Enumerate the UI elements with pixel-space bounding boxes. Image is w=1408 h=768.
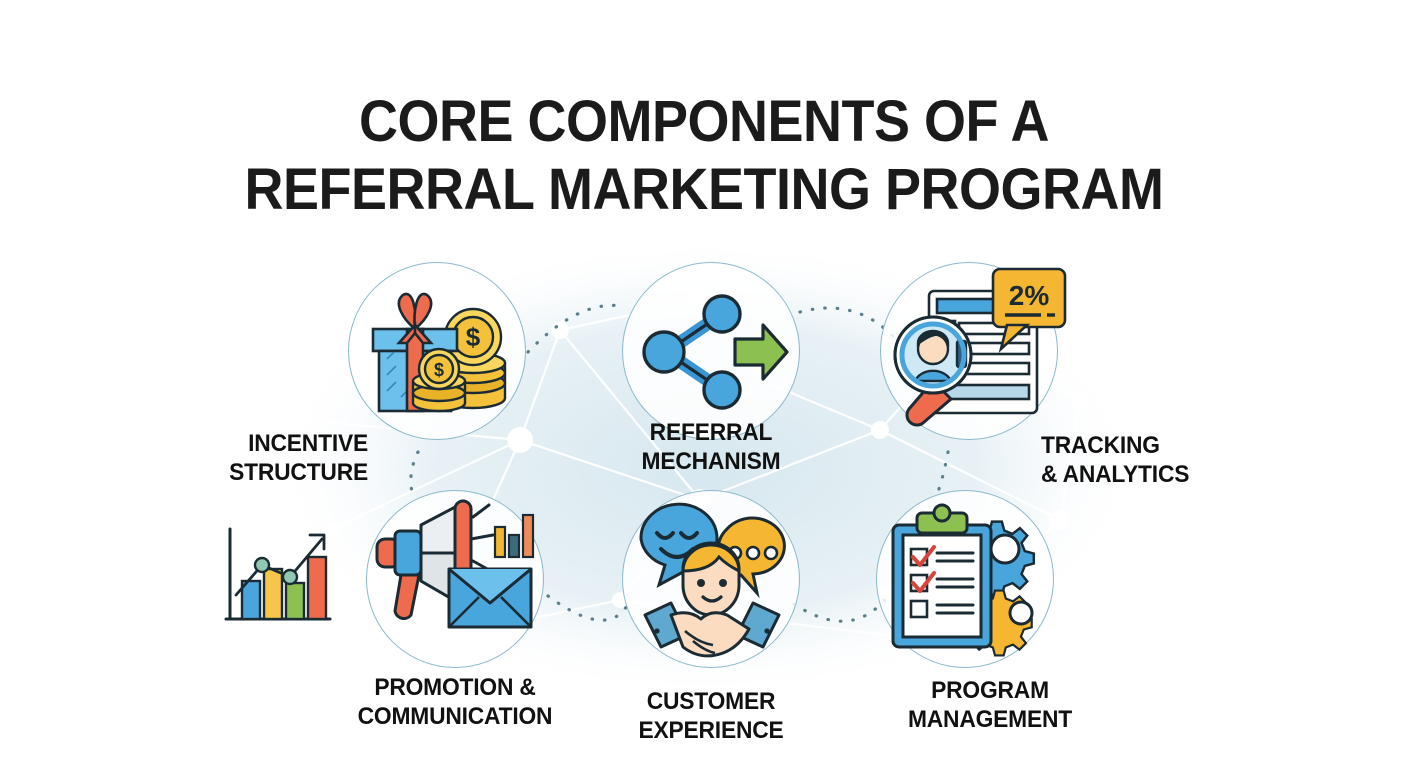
connector-promotion-to-customer: [548, 596, 628, 620]
megaphone-envelope-icon: [367, 491, 545, 669]
customer-experience-label-line-1: CUSTOMER: [647, 688, 776, 715]
referral-mechanism-label: REFERRAL MECHANISM: [573, 418, 849, 476]
page-title: CORE COMPONENTS OF A REFERRAL MARKETING …: [49, 88, 1358, 224]
decorative-bar-chart-icon: [218, 523, 336, 633]
magnifier-profile-report-icon: 2%: [881, 263, 1059, 441]
customer-experience-circle[interactable]: [622, 490, 800, 668]
promotion-communication-circle[interactable]: [366, 490, 544, 668]
program-management-label: PROGRAM MANAGEMENT: [852, 676, 1128, 734]
promotion-communication-label: PROMOTION & COMMUNICATION: [313, 673, 598, 731]
promotion-communication-label-line-1: PROMOTION &: [374, 674, 535, 701]
percent-badge-value: 2%: [1009, 280, 1050, 311]
title-line-1: CORE COMPONENTS OF A: [49, 88, 1358, 156]
incentive-structure-label: INCENTIVE STRUCTURE: [104, 429, 368, 487]
tracking-analytics-circle[interactable]: 2%: [880, 262, 1058, 440]
mini-bar-chart-icon: [495, 515, 533, 557]
tracking-analytics-label-line-2: & ANALYTICS: [1041, 461, 1189, 488]
connector-incentive-to-referral: [528, 305, 622, 352]
connector-tracking-to-program: [938, 452, 948, 492]
gift-box-and-coins-icon: $: [349, 263, 527, 441]
tracking-analytics-label: TRACKING & ANALYTICS: [1041, 431, 1326, 489]
program-management-label-line-2: MANAGEMENT: [908, 706, 1072, 733]
title-line-2: REFERRAL MARKETING PROGRAM: [49, 156, 1358, 224]
svg-text:$: $: [434, 360, 444, 380]
incentive-structure-circle[interactable]: $: [348, 262, 526, 440]
customer-experience-label-line-2: EXPERIENCE: [638, 717, 783, 744]
connector-customer-to-program: [794, 596, 888, 621]
share-network-arrow-icon: [623, 263, 801, 441]
infographic-canvas: CORE COMPONENTS OF A REFERRAL MARKETING …: [0, 0, 1408, 768]
connector-incentive-to-promotion: [411, 452, 418, 492]
program-management-label-line-1: PROGRAM: [931, 677, 1049, 704]
clipboard-checklist-gears-icon: [877, 491, 1055, 669]
referral-mechanism-label-line-2: MECHANISM: [642, 448, 781, 475]
incentive-structure-label-line-1: INCENTIVE: [248, 430, 368, 457]
incentive-structure-label-line-2: STRUCTURE: [229, 459, 368, 486]
tracking-analytics-label-line-1: TRACKING: [1041, 432, 1160, 459]
referral-mechanism-label-line-1: REFERRAL: [650, 419, 773, 446]
green-arrow-icon: [735, 325, 787, 379]
referral-mechanism-circle[interactable]: [622, 262, 800, 440]
promotion-communication-label-line-2: COMMUNICATION: [358, 703, 553, 730]
program-management-circle[interactable]: [876, 490, 1054, 668]
customer-experience-label: CUSTOMER EXPERIENCE: [573, 687, 849, 745]
envelope-icon: [449, 569, 531, 627]
svg-text:$: $: [466, 322, 481, 352]
person-handshake-chat-icon: [623, 491, 801, 669]
